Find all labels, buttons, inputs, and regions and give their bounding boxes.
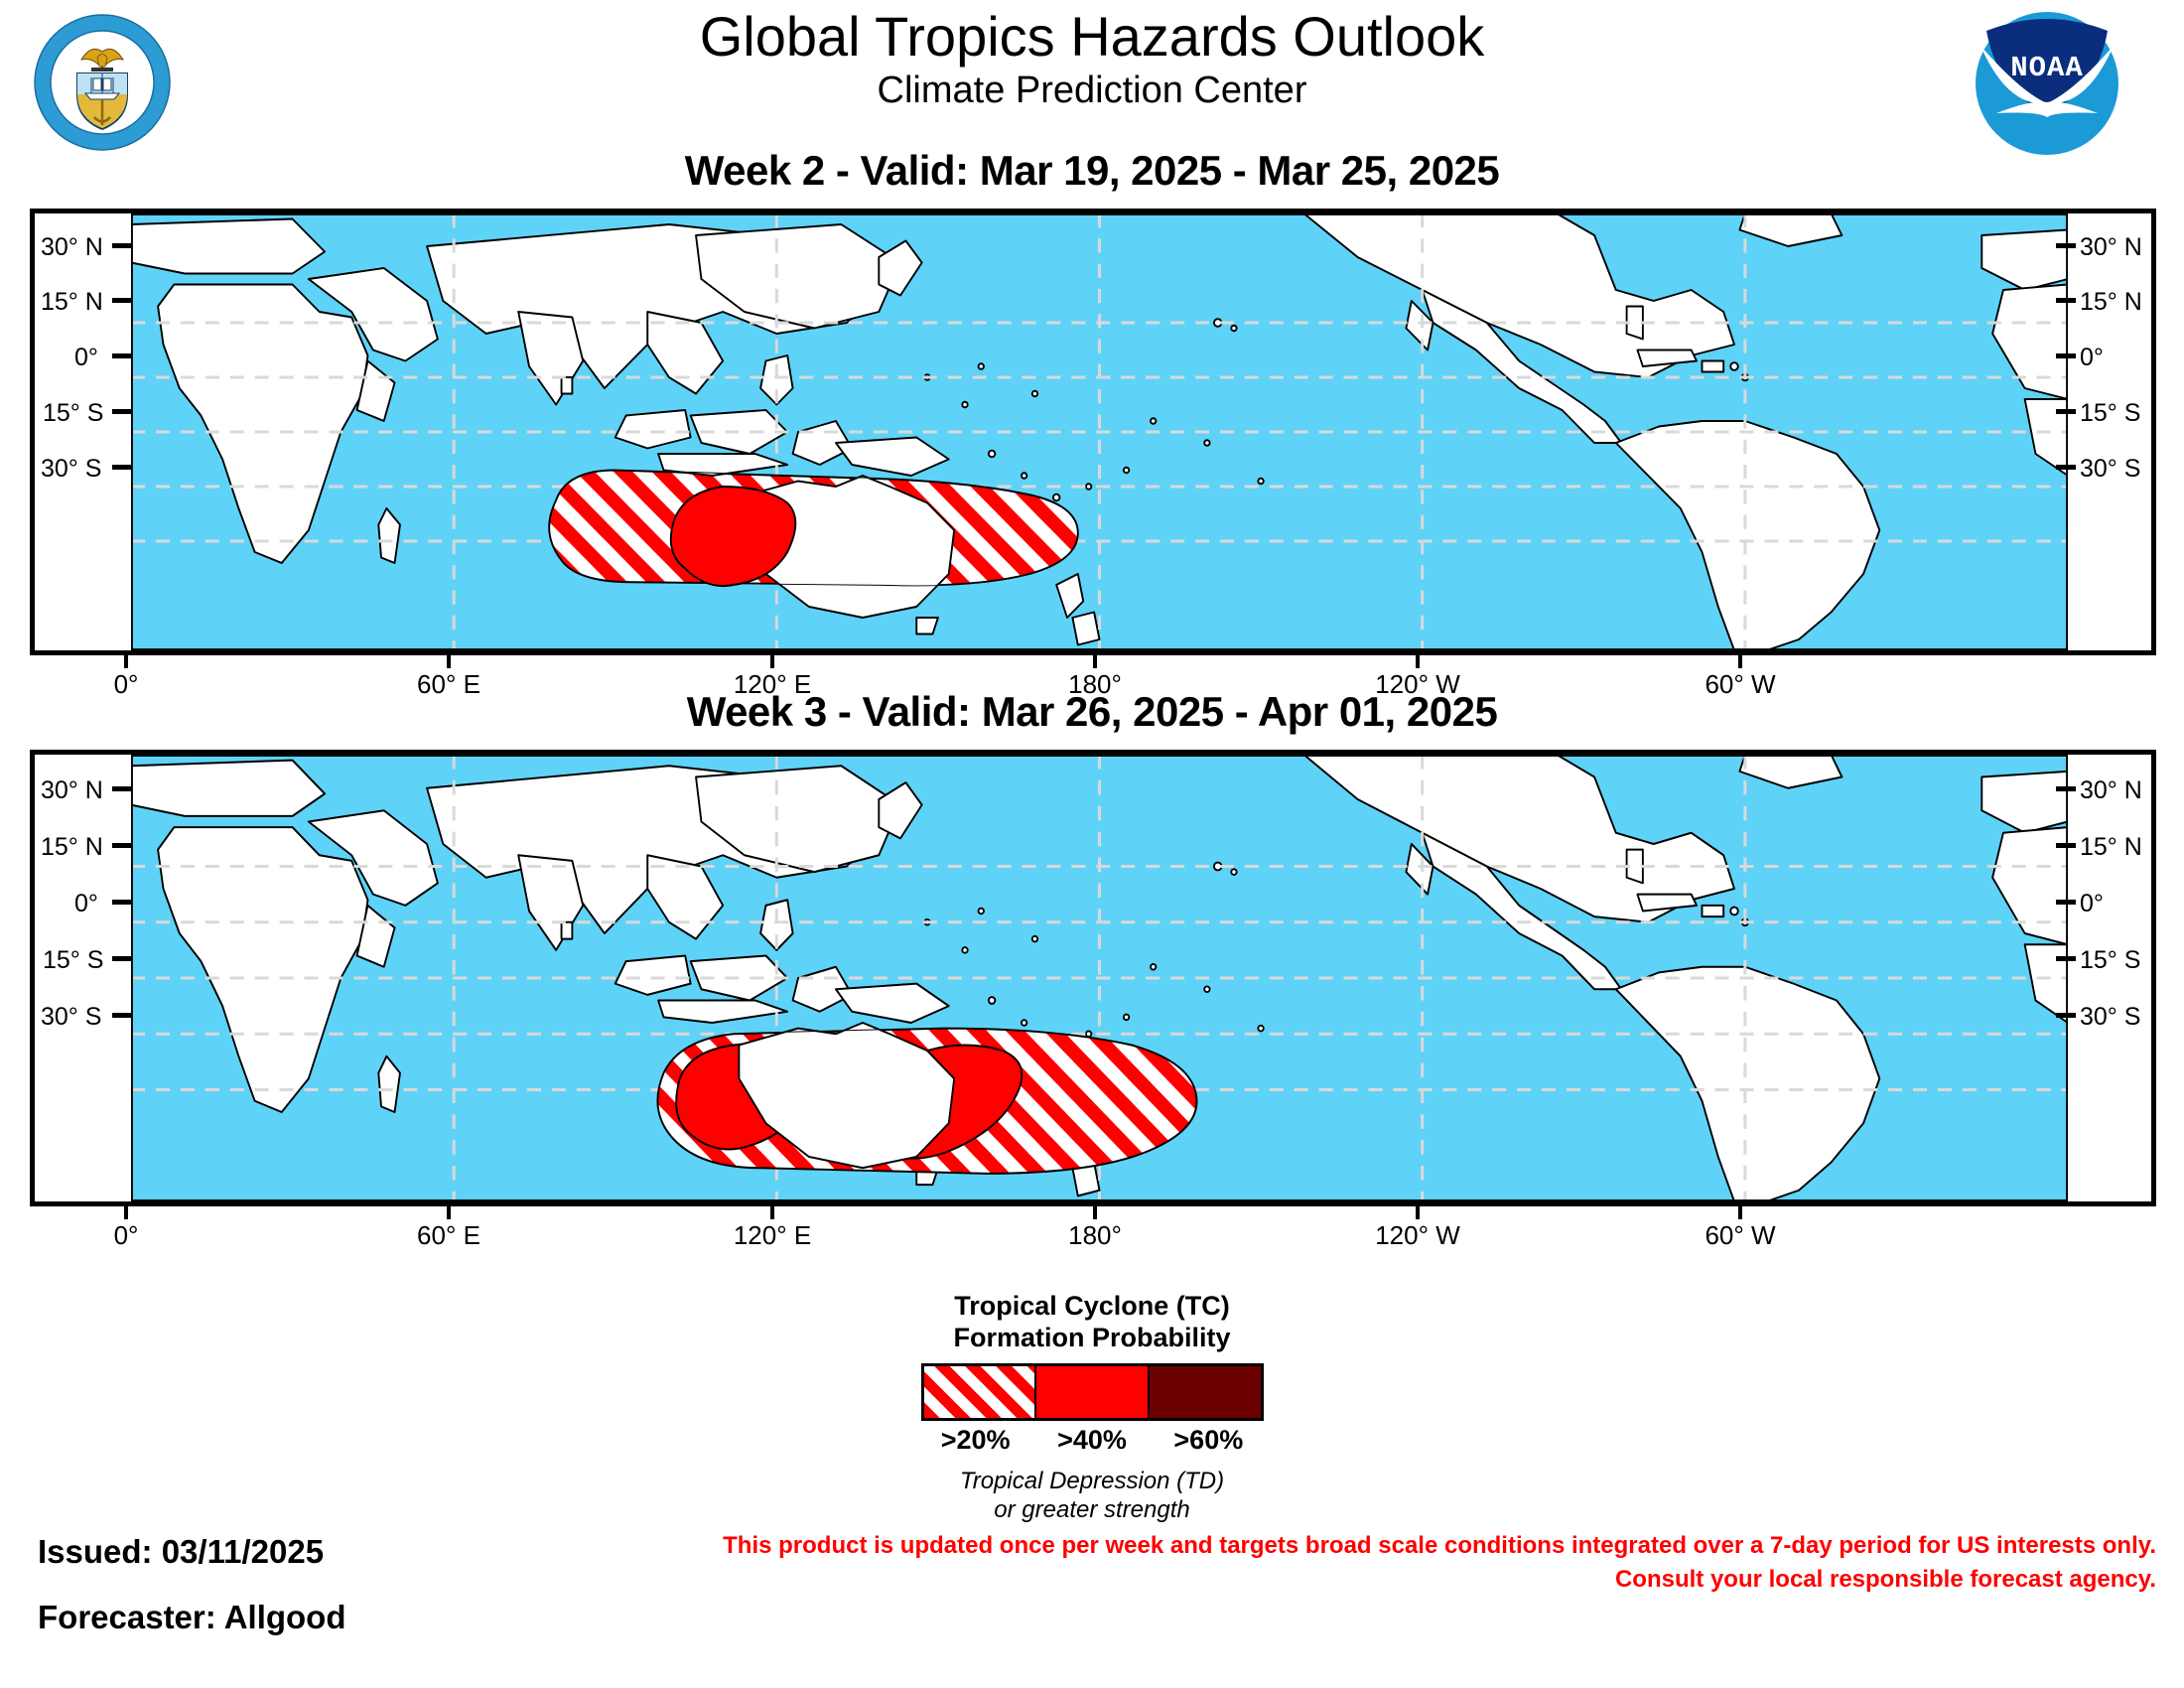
page-title: Global Tropics Hazards Outlook xyxy=(0,8,2184,67)
disclaimer-line2: Consult your local responsible forecast … xyxy=(608,1563,2156,1597)
lon-label-60w: 60° W xyxy=(1705,1220,1775,1251)
legend-swatch-20pct xyxy=(924,1366,1037,1418)
lat-label-15s-right: 15° S xyxy=(2080,399,2140,428)
legend-swatch-60pct xyxy=(1150,1366,1261,1418)
lat-label-30n-right: 30° N xyxy=(2080,776,2142,805)
lat-label-30n-left: 30° N xyxy=(41,233,103,262)
week2-map-panel[interactable]: 30° N 15° N 0° 15° S 30° S 30° N 15° N 0… xyxy=(30,209,2156,655)
disclaimer-line1: This product is updated once per week an… xyxy=(608,1529,2156,1563)
legend-labels: >20% >40% >60% xyxy=(917,1425,1267,1456)
lon-label-180: 180° xyxy=(1068,1220,1122,1251)
lat-label-15n-right: 15° N xyxy=(2080,288,2142,317)
week3-panel-title: Week 3 - Valid: Mar 26, 2025 - Apr 01, 2… xyxy=(0,688,2184,736)
legend-note: Tropical Depression (TD) or greater stre… xyxy=(0,1467,2184,1525)
lat-label-15s-left: 15° S xyxy=(43,399,103,428)
lat-label-0-right: 0° xyxy=(2080,890,2104,918)
lon-label-120e: 120° E xyxy=(734,1220,811,1251)
forecaster-name: Forecaster: Allgood xyxy=(38,1585,346,1650)
week3-map-panel[interactable]: 30° N 15° N 0° 15° S 30° S 30° N 15° N 0… xyxy=(30,750,2156,1206)
lat-label-15n-left: 15° N xyxy=(41,288,103,317)
lat-label-30n-left: 30° N xyxy=(41,776,103,805)
legend-note-line1: Tropical Depression (TD) xyxy=(0,1467,2184,1495)
lat-label-0-right: 0° xyxy=(2080,344,2104,372)
lon-label-60e: 60° E xyxy=(417,1220,480,1251)
lat-label-0-left: 0° xyxy=(74,344,98,372)
legend-color-bar xyxy=(921,1363,1264,1421)
lat-label-30s-left: 30° S xyxy=(41,1003,101,1032)
week3-lon-axis: 0° 60° E 120° E 180° 120° W 60° W xyxy=(30,1206,2156,1266)
lat-label-15n-left: 15° N xyxy=(41,833,103,862)
week3-map-canvas[interactable] xyxy=(131,755,2068,1201)
legend-label-60pct: >60% xyxy=(1151,1425,1267,1456)
lat-label-0-left: 0° xyxy=(74,890,98,918)
legend-label-40pct: >40% xyxy=(1033,1425,1150,1456)
lat-label-15n-right: 15° N xyxy=(2080,833,2142,862)
legend-label-20pct: >20% xyxy=(917,1425,1033,1456)
week2-panel-title: Week 2 - Valid: Mar 19, 2025 - Mar 25, 2… xyxy=(0,147,2184,195)
page-header: DEPARTMENT OF COMMERCE UNITED STATES OF … xyxy=(0,0,2184,164)
disclaimer: This product is updated once per week an… xyxy=(608,1529,2156,1597)
lon-label-120w: 120° W xyxy=(1375,1220,1460,1251)
lat-label-30s-right: 30° S xyxy=(2080,1003,2140,1032)
lat-label-30n-right: 30° N xyxy=(2080,233,2142,262)
page-subtitle: Climate Prediction Center xyxy=(0,70,2184,112)
week2-map-canvas[interactable] xyxy=(131,213,2068,650)
legend: Tropical Cyclone (TC) Formation Probabil… xyxy=(0,1291,2184,1524)
legend-swatch-40pct xyxy=(1036,1366,1150,1418)
issued-block: Issued: 03/11/2025 Forecaster: Allgood xyxy=(38,1519,346,1650)
lat-label-30s-right: 30° S xyxy=(2080,455,2140,484)
issued-date: Issued: 03/11/2025 xyxy=(38,1519,346,1585)
legend-title-line1: Tropical Cyclone (TC) xyxy=(0,1291,2184,1323)
lat-label-15s-left: 15° S xyxy=(43,946,103,975)
legend-title-line2: Formation Probability xyxy=(0,1323,2184,1354)
lat-label-30s-left: 30° S xyxy=(41,455,101,484)
lon-label-0: 0° xyxy=(114,1220,139,1251)
lat-label-15s-right: 15° S xyxy=(2080,946,2140,975)
legend-title: Tropical Cyclone (TC) Formation Probabil… xyxy=(0,1291,2184,1354)
